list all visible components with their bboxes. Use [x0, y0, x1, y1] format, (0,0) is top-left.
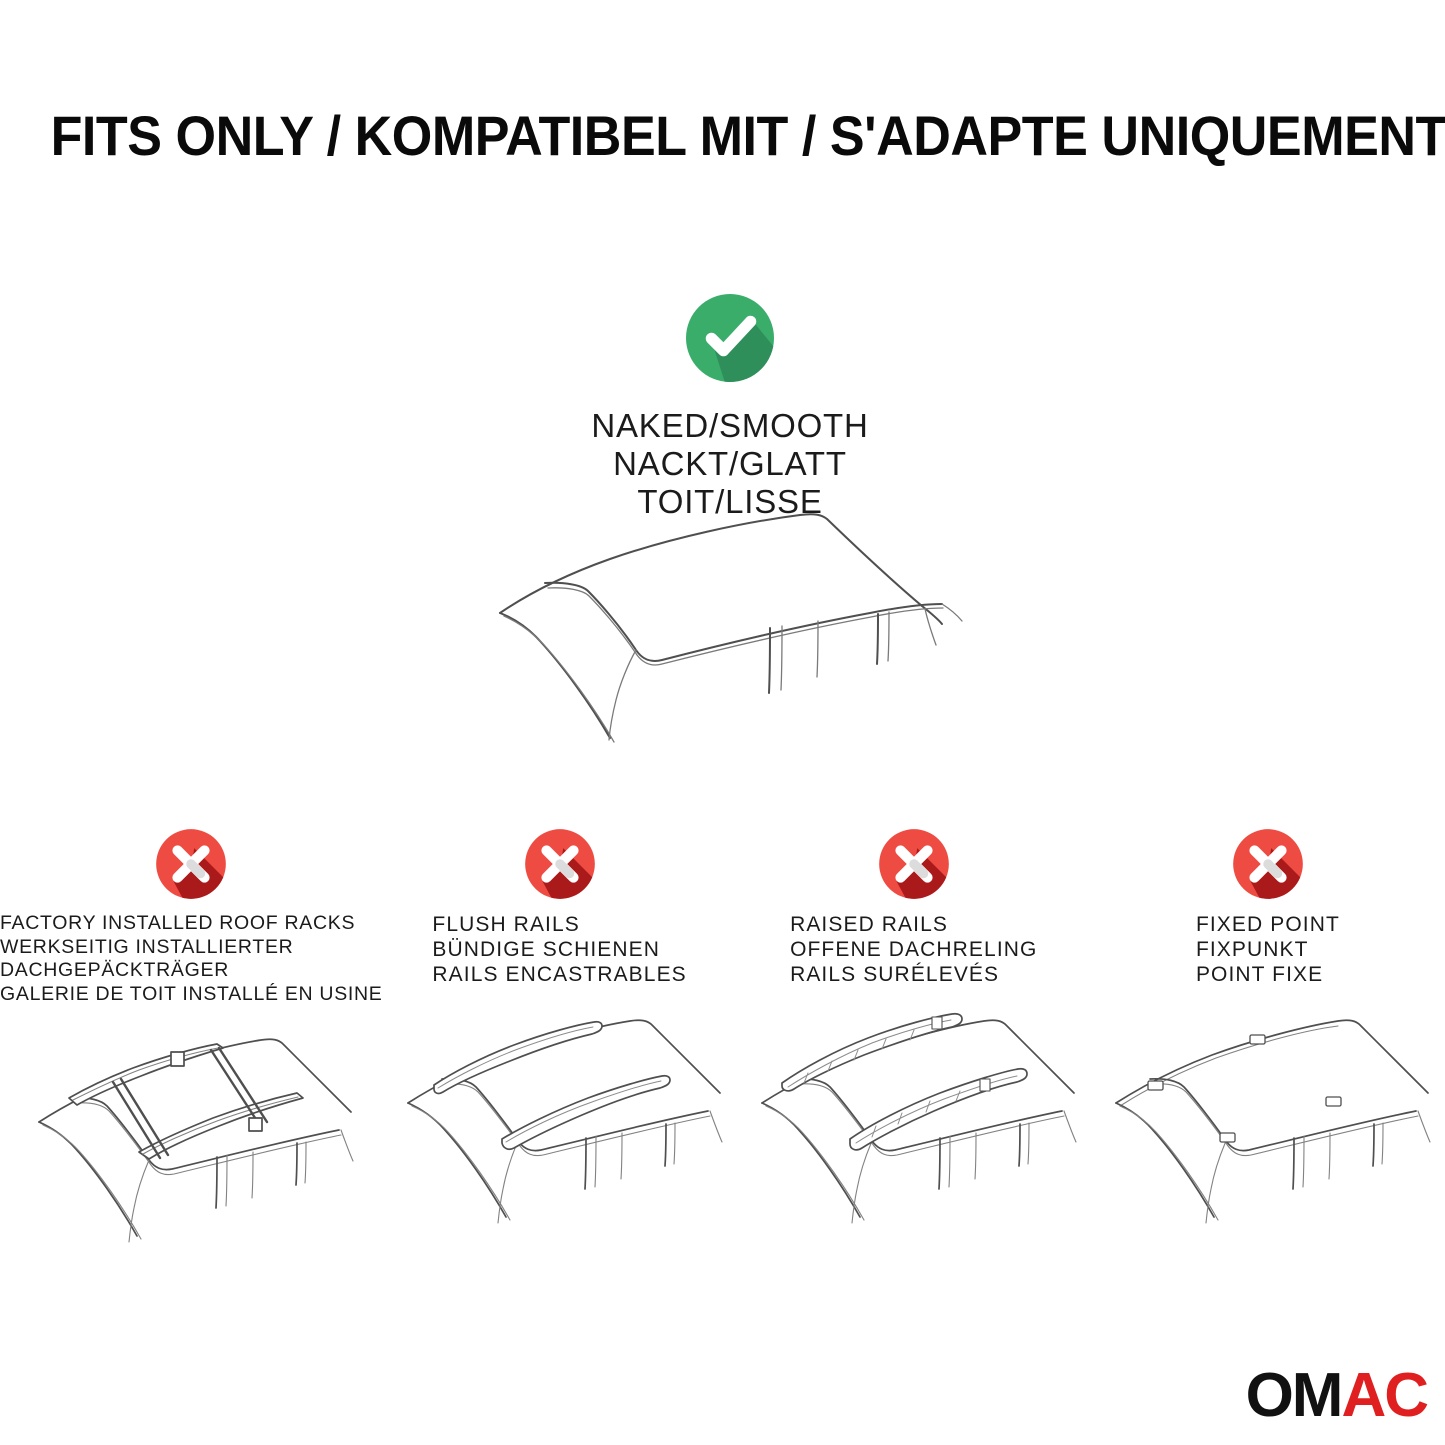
- logo-text-black: OM: [1246, 1361, 1342, 1430]
- caption-line: NAKED/SMOOTH: [450, 407, 1010, 445]
- incompatible-caption: FLUSH RAILS BÜNDIGE SCHIENEN RAILS ENCAS…: [432, 912, 686, 987]
- check-circle-icon: [682, 290, 778, 386]
- incompatible-caption: FIXED POINT FIXPUNKT POINT FIXE: [1196, 912, 1340, 987]
- caption-line: DACHGEPÄCKTRÄGER: [0, 959, 383, 983]
- caption-line: FIXPUNKT: [1196, 937, 1340, 962]
- compatible-block: NAKED/SMOOTH NACKT/GLATT TOIT/LISSE: [450, 290, 1010, 521]
- caption-line: OFFENE DACHRELING: [790, 937, 1037, 962]
- caption-line: BÜNDIGE SCHIENEN: [432, 937, 686, 962]
- logo-text-red: AC: [1341, 1361, 1427, 1430]
- caption-line: GALERIE DE TOIT INSTALLÉ EN USINE: [0, 983, 383, 1007]
- caption-line: FLUSH RAILS: [432, 912, 686, 937]
- caption-line: WERKSEITIG INSTALLIERTER: [0, 936, 383, 960]
- omac-logo: OMAC: [1246, 1365, 1427, 1427]
- incompatible-item-fixed-point: FIXED POINT FIXPUNKT POINT FIXE: [1091, 826, 1445, 1243]
- caption-line: POINT FIXE: [1196, 962, 1340, 987]
- incompatible-caption: FACTORY INSTALLED ROOF RACKS WERKSEITIG …: [0, 912, 383, 1006]
- cross-circle-icon: [522, 826, 598, 902]
- caption-line: FACTORY INSTALLED ROOF RACKS: [0, 912, 383, 936]
- naked-smooth-roof-illustration: [470, 488, 990, 753]
- incompatible-caption: RAISED RAILS OFFENE DACHRELING RAILS SUR…: [790, 912, 1037, 987]
- cross-circle-icon: [876, 826, 952, 902]
- caption-line: RAILS ENCASTRABLES: [432, 962, 686, 987]
- caption-line: NACKT/GLATT: [450, 445, 1010, 483]
- caption-line: RAILS SURÉLEVÉS: [790, 962, 1037, 987]
- incompatible-item-flush-rails: FLUSH RAILS BÜNDIGE SCHIENEN RAILS ENCAS…: [383, 826, 737, 1243]
- cross-circle-icon: [1230, 826, 1306, 902]
- raised-rails-roof-illustration: [737, 993, 1091, 1243]
- factory-roof-rack-illustration: [0, 1012, 383, 1262]
- incompatible-grid: FACTORY INSTALLED ROOF RACKS WERKSEITIG …: [0, 826, 1445, 1266]
- caption-line: RAISED RAILS: [790, 912, 1037, 937]
- caption-line: FIXED POINT: [1196, 912, 1340, 937]
- fixed-point-roof-illustration: [1091, 993, 1445, 1243]
- page-title: FITS ONLY / KOMPATIBEL MIT / S'ADAPTE UN…: [51, 104, 1395, 168]
- incompatible-item-factory-roof-rack: FACTORY INSTALLED ROOF RACKS WERKSEITIG …: [0, 826, 383, 1262]
- cross-circle-icon: [153, 826, 229, 902]
- flush-rails-roof-illustration: [383, 993, 737, 1243]
- incompatible-item-raised-rails: RAISED RAILS OFFENE DACHRELING RAILS SUR…: [737, 826, 1091, 1243]
